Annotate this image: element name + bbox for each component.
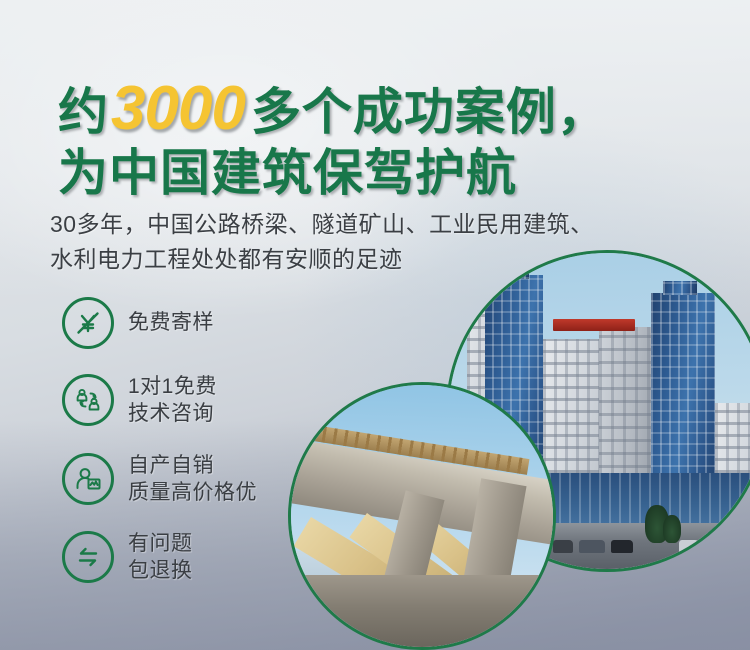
tower-right-cap: [663, 281, 697, 295]
bridge-photo: [288, 382, 556, 650]
feature-line: 有问题: [128, 530, 193, 557]
feature-line: 质量高价格优: [128, 479, 257, 506]
feature-line: 技术咨询: [128, 400, 217, 427]
bridge-photo-art: [291, 385, 553, 647]
subtitle-line-1: 30多年，中国公路桥梁、隧道矿山、工业民用建筑、: [50, 207, 594, 242]
feature-line: 包退换: [128, 557, 193, 584]
feature-line: 免费寄样: [128, 309, 214, 336]
headline-line-2: 为中国建筑保驾护航: [58, 146, 608, 200]
headline-number: 3000: [109, 78, 251, 140]
feature-item-return-exchange[interactable]: 有问题 包退换: [62, 530, 257, 585]
car: [553, 540, 573, 553]
feature-item-consult[interactable]: 1对1免费 技术咨询: [62, 373, 257, 428]
ground-rubble: [291, 575, 553, 647]
self-produce-sell-icon: [62, 453, 114, 505]
feature-label: 有问题 包退换: [128, 530, 193, 585]
feature-item-free-sample[interactable]: 免费寄样: [62, 297, 257, 349]
feature-label: 自产自销 质量高价格优: [128, 452, 257, 507]
car: [579, 540, 605, 553]
rooftop-sign: [553, 319, 635, 331]
free-sample-icon: [62, 297, 114, 349]
feature-line: 1对1免费: [128, 373, 217, 400]
headline-line-1: 约 3000 多个成功案例，: [58, 78, 608, 140]
feature-list: 免费寄样 1对1免费 技术咨询: [62, 297, 257, 585]
one-on-one-consult-icon: [62, 374, 114, 426]
page-title: 约 3000 多个成功案例， 为中国建筑保驾护航: [58, 78, 608, 200]
car: [611, 540, 633, 553]
feature-label: 免费寄样: [128, 309, 214, 336]
feature-item-self-produce[interactable]: 自产自销 质量高价格优: [62, 452, 257, 507]
feature-line: 自产自销: [128, 452, 257, 479]
headline-suffix: 多个成功案例，: [251, 87, 608, 137]
tree: [663, 515, 681, 543]
return-exchange-icon: [62, 531, 114, 583]
subtitle-line-2: 水利电力工程处处都有安顺的足迹: [50, 242, 594, 277]
promo-banner: 约 3000 多个成功案例， 为中国建筑保驾护航 30多年，中国公路桥梁、隧道矿…: [0, 0, 750, 650]
feature-label: 1对1免费 技术咨询: [128, 373, 217, 428]
headline-prefix: 约: [58, 87, 109, 137]
subtitle: 30多年，中国公路桥梁、隧道矿山、工业民用建筑、 水利电力工程处处都有安顺的足迹: [50, 207, 594, 277]
car: [679, 540, 699, 553]
